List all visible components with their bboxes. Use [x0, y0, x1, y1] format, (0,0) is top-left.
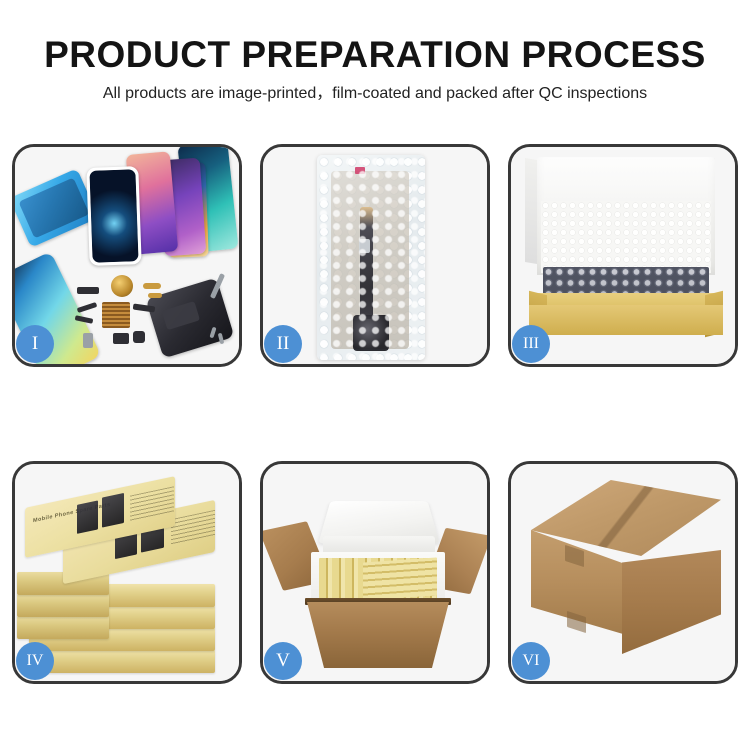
carton-body-image [307, 602, 449, 668]
foam-sheet-image [541, 201, 711, 273]
step-badge-4: IV [16, 642, 54, 680]
component-coil [111, 275, 133, 297]
box-print-label-1: Mobile Phone Spare Parts [33, 502, 110, 524]
header: PRODUCT PREPARATION PROCESS All products… [0, 0, 750, 130]
box-window-graphic-1 [77, 500, 98, 533]
component-battery-tab [83, 333, 93, 348]
process-step-panel-6: VI [508, 461, 738, 684]
wrapped-part-connector-small [359, 239, 370, 253]
process-steps-grid: I II [12, 144, 738, 684]
box-lid-flap-left [525, 158, 537, 264]
box-stack-left-layer-3 [17, 616, 109, 639]
component-bracket-1 [143, 283, 161, 289]
component-chip-1 [77, 287, 99, 294]
box-stack-left-layer-2 [17, 594, 109, 617]
wrapped-part-connector [353, 315, 389, 351]
process-step-panel-1: I [12, 144, 242, 367]
box-window-graphic-2 [102, 493, 124, 528]
box-spec-text-block-2 [171, 510, 215, 545]
bubble-wrap-bag-image [317, 155, 425, 360]
process-step-panel-5: V [260, 461, 490, 684]
packed-yellow-boxes-second-row [363, 557, 437, 600]
step-badge-1: I [16, 325, 54, 363]
product-preparation-infographic: PRODUCT PREPARATION PROCESS All products… [0, 0, 750, 750]
component-flex-cable-1 [77, 302, 98, 313]
step-badge-5: V [264, 642, 302, 680]
phone-back-housing-image [146, 278, 235, 359]
sealed-carton-right-face [622, 550, 721, 654]
component-grid-chip [102, 302, 130, 328]
step-badge-2: II [264, 325, 302, 363]
tray-front-face [529, 305, 723, 335]
process-step-panel-3: III [508, 144, 738, 367]
wrapped-part-flex-cable [360, 207, 373, 319]
process-step-panel-4: Mobile Phone Spare Parts Mobile Phone Sp… [12, 461, 242, 684]
step-badge-6: VI [512, 642, 550, 680]
component-speaker [113, 333, 129, 344]
step-badge-3: III [512, 325, 550, 363]
component-bracket-2 [148, 293, 162, 298]
yellow-box-tray-image [529, 293, 723, 335]
qc-sticker [355, 167, 365, 174]
box-spec-text-block-1 [130, 486, 174, 521]
box-stack-layer-5 [29, 650, 215, 673]
page-subtitle: All products are image-printed，film-coat… [0, 83, 750, 105]
page-title: PRODUCT PREPARATION PROCESS [0, 33, 750, 77]
process-step-panel-2: II [260, 144, 490, 367]
component-camera [133, 331, 145, 343]
front-glass-panel-image [86, 166, 141, 266]
